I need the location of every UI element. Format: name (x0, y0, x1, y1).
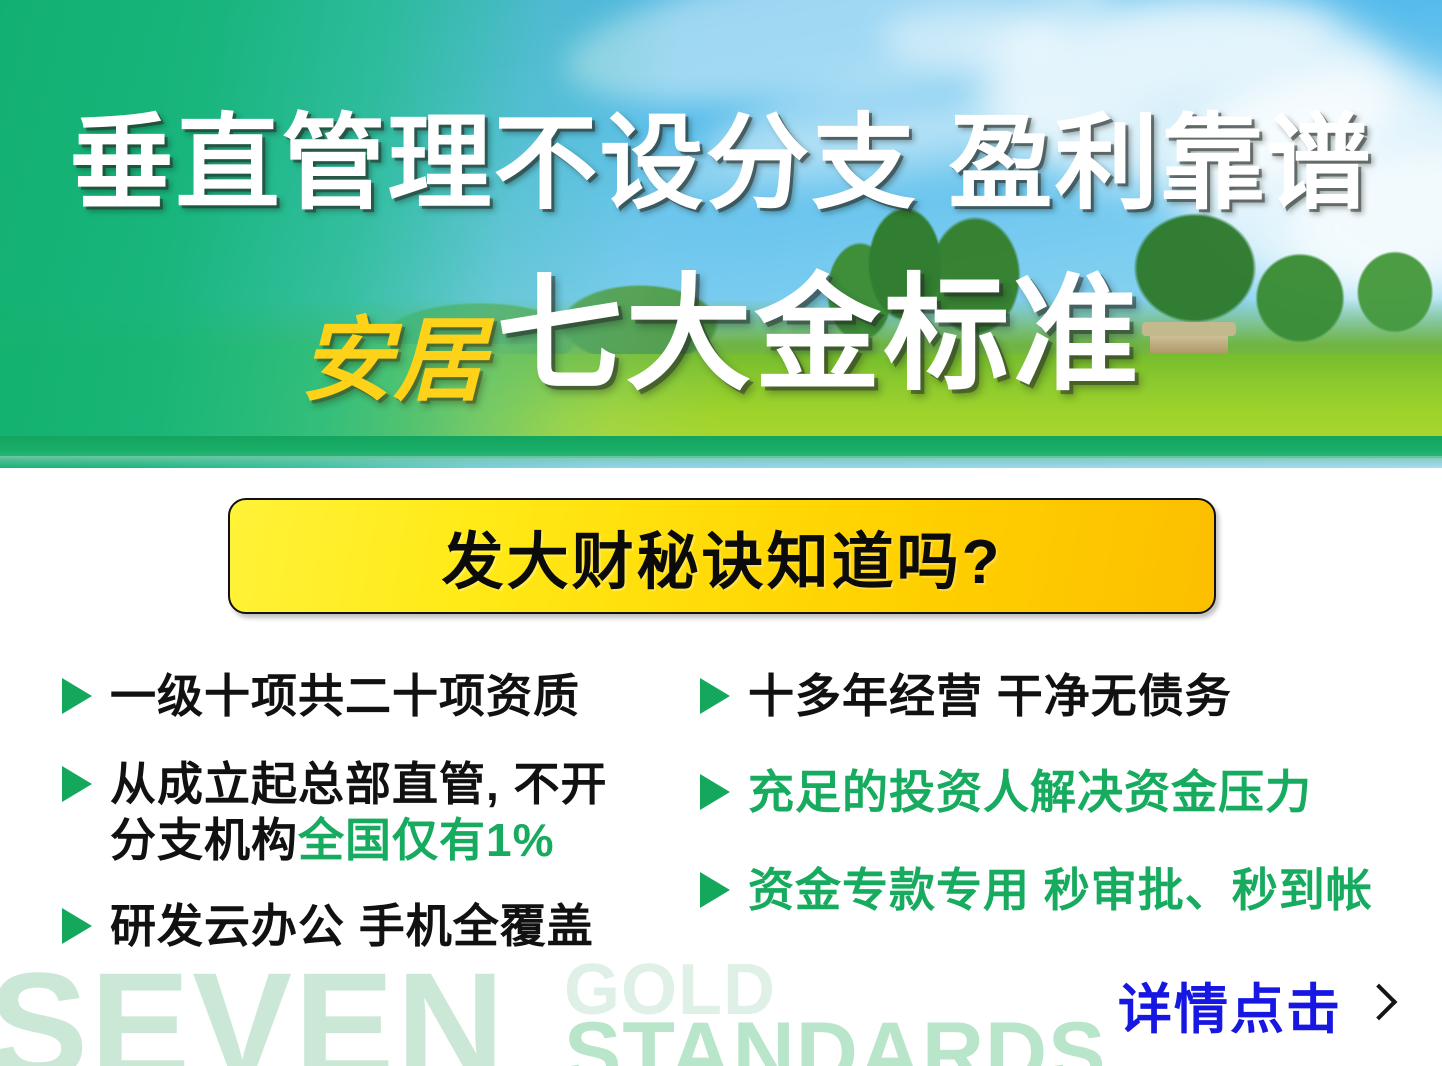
hero-bottom-stripe (0, 436, 1442, 458)
feature-text: 十多年经营 干净无债务 (748, 668, 1232, 724)
list-item: 十多年经营 干净无债务 (700, 668, 1430, 724)
feature-text-highlight: 全国仅有1% (298, 814, 554, 866)
green-triangle-icon (62, 678, 92, 714)
list-item: 一级十项共二十项资质 (62, 668, 682, 724)
feature-text: 从成立起总部直管, 不开分支机构全国仅有1% (110, 756, 608, 868)
feature-text: 资金专款专用 秒审批、秒到帐 (748, 862, 1373, 918)
hero-stripe-fade (0, 456, 1442, 468)
feature-column-left: 一级十项共二十项资质 从成立起总部直管, 不开分支机构全国仅有1% 研发云办公 … (62, 660, 682, 954)
hero-section: 垂直管理不设分支 盈利靠谱 安居七大金标准 (0, 0, 1442, 468)
feature-text-line1: 从成立起总部直管, 不开 (110, 758, 608, 810)
feature-column-right: 十多年经营 干净无债务 充足的投资人解决资金压力 资金专款专用 秒审批、秒到帐 (700, 660, 1430, 918)
watermark-standards: STANDARDS (564, 1010, 1107, 1066)
list-item: 从成立起总部直管, 不开分支机构全国仅有1% (62, 756, 682, 868)
highlight-banner-text: 发大财秘诀知道吗? (442, 511, 1003, 601)
feature-list: 一级十项共二十项资质 从成立起总部直管, 不开分支机构全国仅有1% 研发云办公 … (0, 660, 1442, 990)
details-cta-button[interactable]: 详情点击 (1118, 965, 1390, 1044)
list-item: 充足的投资人解决资金压力 (700, 764, 1430, 820)
green-triangle-icon (700, 678, 730, 714)
green-triangle-icon (62, 766, 92, 802)
hero-headline-primary: 垂直管理不设分支 盈利靠谱 (0, 112, 1442, 216)
advertisement-banner: 垂直管理不设分支 盈利靠谱 安居七大金标准 发大财秘诀知道吗? 一级十项共二十项… (0, 0, 1442, 1066)
feature-text: 研发云办公 手机全覆盖 (110, 898, 594, 954)
feature-text-line2-plain: 分支机构 (110, 814, 298, 866)
list-item: 资金专款专用 秒审批、秒到帐 (700, 862, 1430, 918)
hero-brand-name: 安居 (300, 315, 486, 407)
chevron-right-icon (1364, 983, 1390, 1027)
hero-headline-secondary-text: 七大金标准 (497, 272, 1142, 398)
hero-headline-secondary: 安居七大金标准 (0, 272, 1442, 398)
feature-text: 充足的投资人解决资金压力 (748, 764, 1312, 820)
green-triangle-icon (62, 908, 92, 944)
details-cta-label: 详情点击 (1118, 965, 1342, 1044)
feature-text: 一级十项共二十项资质 (110, 668, 580, 724)
highlight-banner[interactable]: 发大财秘诀知道吗? (228, 498, 1216, 614)
green-triangle-icon (700, 872, 730, 908)
green-triangle-icon (700, 774, 730, 810)
list-item: 研发云办公 手机全覆盖 (62, 898, 682, 954)
